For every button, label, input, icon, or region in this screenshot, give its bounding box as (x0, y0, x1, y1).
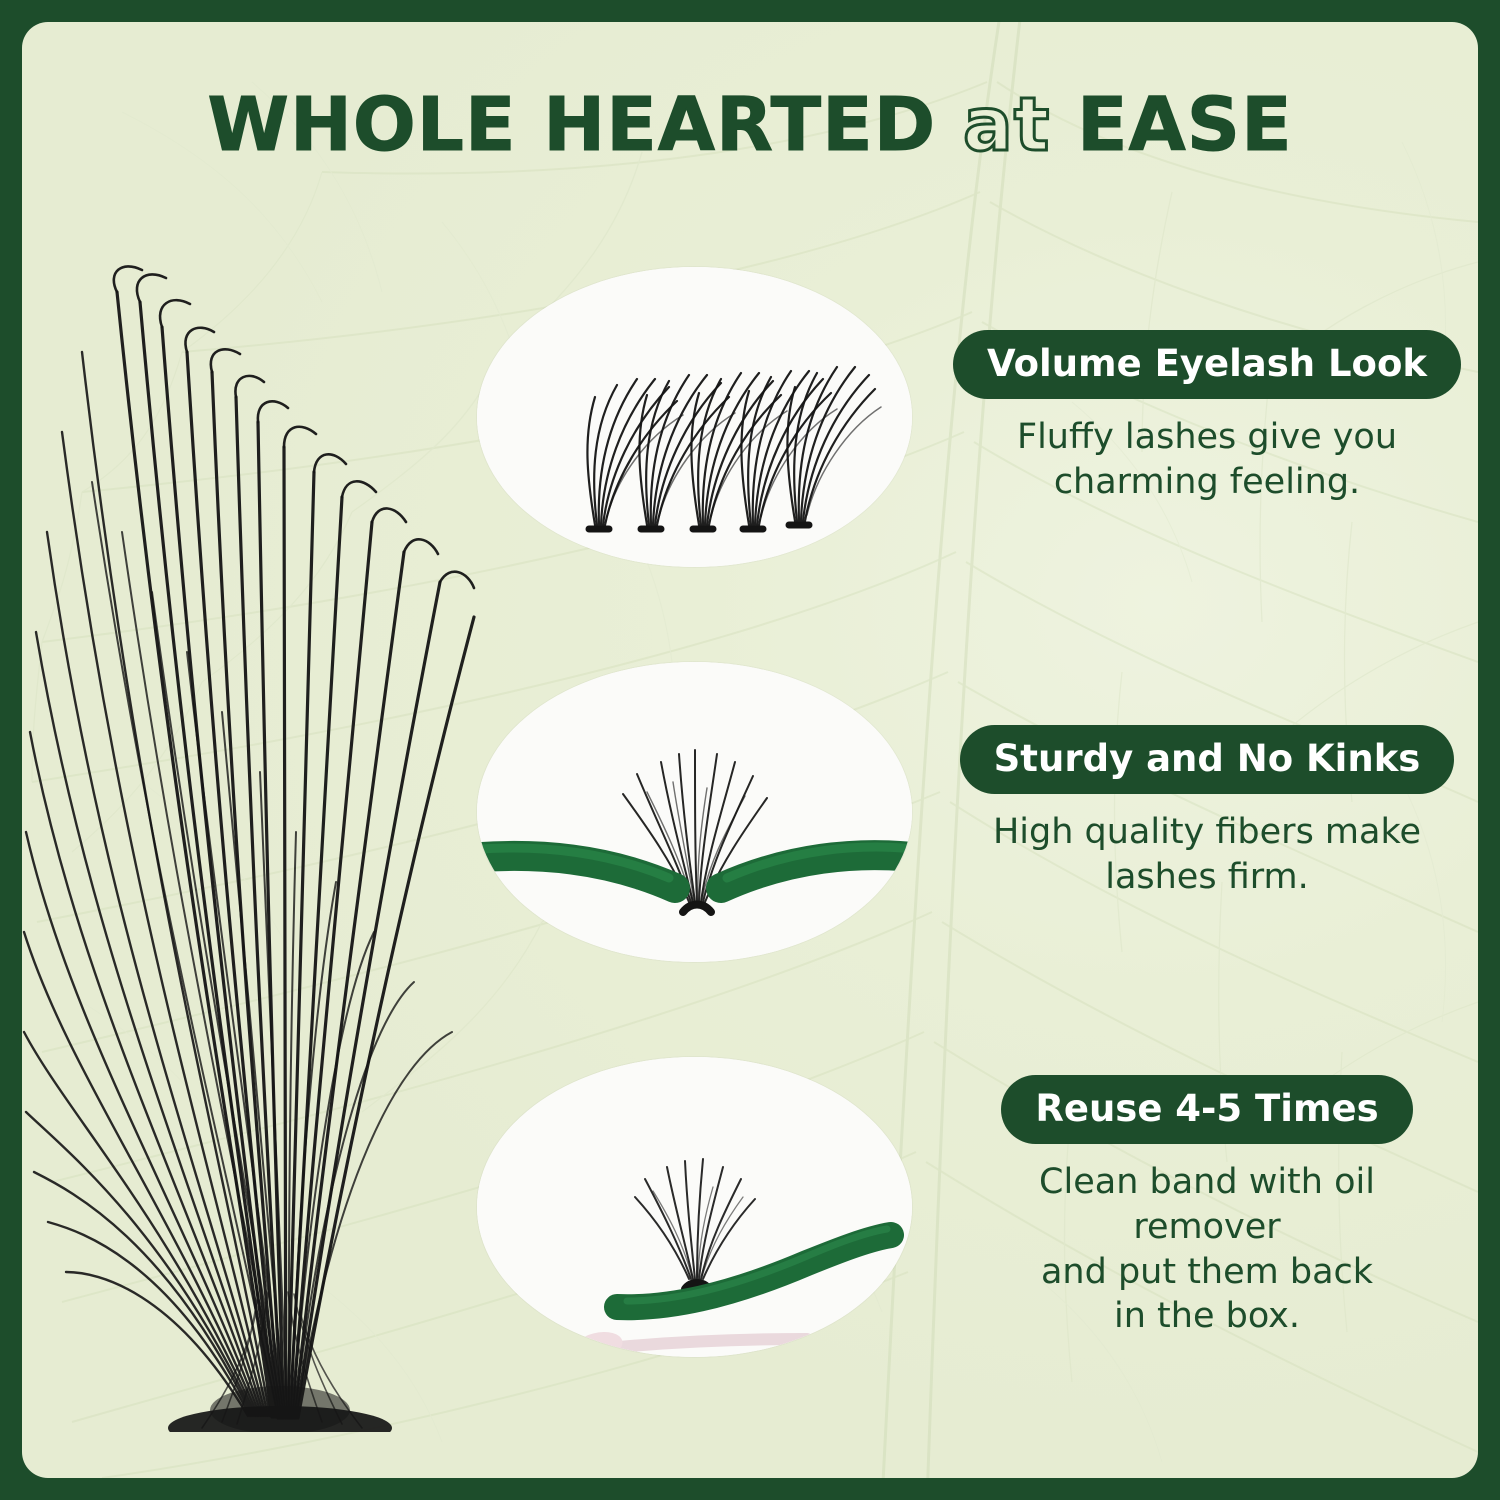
hero-lash-illustration (22, 232, 492, 1432)
hero-lash-photo (22, 232, 492, 1432)
poster-inner-panel: WHOLE HEARTED at EASE (22, 22, 1478, 1478)
feature-copy-1: Volume Eyelash Look Fluffy lashes give y… (967, 330, 1447, 505)
volume-lash-clusters-illustration (477, 267, 912, 567)
poster-title: WHOLE HEARTED at EASE (22, 82, 1478, 168)
feature-image-1 (477, 267, 912, 567)
feature-description-2: High quality fibers make lashes firm. (993, 810, 1421, 900)
feature-description-3: Clean band with oil remover and put them… (967, 1160, 1447, 1339)
tweezers-holding-lash-illustration (477, 662, 912, 962)
title-part-1: WHOLE HEARTED (207, 82, 936, 168)
feature-description-1: Fluffy lashes give you charming feeling. (1017, 415, 1397, 505)
feature-image-3 (477, 1057, 912, 1357)
feature-heading-1: Volume Eyelash Look (953, 330, 1461, 399)
title-part-2: at (963, 82, 1050, 168)
feature-copy-3: Reuse 4-5 Times Clean band with oil remo… (967, 1075, 1447, 1339)
feature-copy-2: Sturdy and No Kinks High quality fibers … (967, 725, 1447, 900)
feature-image-2 (477, 662, 912, 962)
feature-heading-3: Reuse 4-5 Times (1001, 1075, 1412, 1144)
title-part-3: EASE (1077, 82, 1293, 168)
feature-row-1: Volume Eyelash Look Fluffy lashes give y… (477, 267, 1447, 567)
tweezers-with-cotton-swab-illustration (477, 1057, 912, 1357)
feature-heading-2: Sturdy and No Kinks (960, 725, 1455, 794)
product-feature-poster: WHOLE HEARTED at EASE (0, 0, 1500, 1500)
feature-row-3: Reuse 4-5 Times Clean band with oil remo… (477, 1057, 1447, 1357)
feature-row-2: Sturdy and No Kinks High quality fibers … (477, 662, 1447, 962)
